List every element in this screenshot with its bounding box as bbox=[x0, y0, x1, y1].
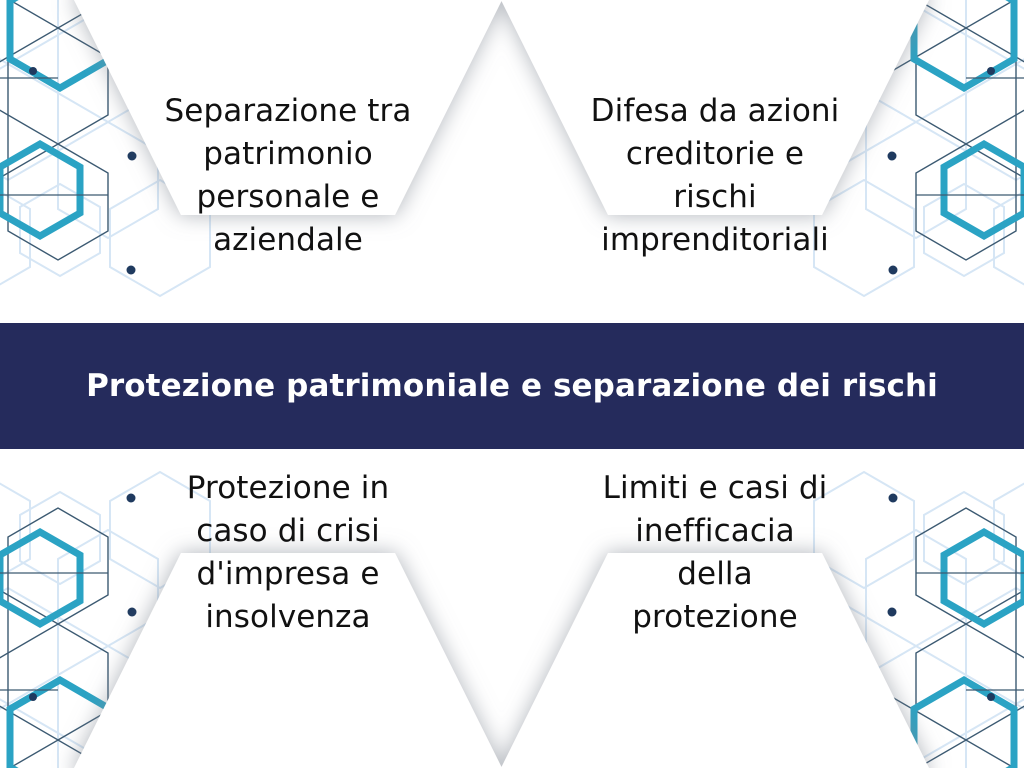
hexagon-cell-bottom-right: Limiti e casi di inefficacia della prote… bbox=[515, 467, 915, 639]
title-banner: Protezione patrimoniale e separazione de… bbox=[0, 323, 1024, 449]
banner-title-text: Protezione patrimoniale e separazione de… bbox=[86, 368, 938, 404]
infographic-canvas: Separazione tra patrimonio personale e a… bbox=[0, 0, 1024, 768]
hexagon-cell-top-left: Separazione tra patrimonio personale e a… bbox=[88, 90, 488, 262]
hexagon-cell-top-right: Difesa da azioni creditorie e rischi imp… bbox=[515, 90, 915, 262]
hexagon-label-top-right: Difesa da azioni creditorie e rischi imp… bbox=[515, 90, 915, 262]
hexagon-label-top-left: Separazione tra patrimonio personale e a… bbox=[88, 90, 488, 262]
hexagon-label-bottom-right: Limiti e casi di inefficacia della prote… bbox=[515, 467, 915, 639]
hexagon-label-bottom-left: Protezione in caso di crisi d'impresa e … bbox=[88, 467, 488, 639]
hexagon-cell-bottom-left: Protezione in caso di crisi d'impresa e … bbox=[88, 467, 488, 639]
